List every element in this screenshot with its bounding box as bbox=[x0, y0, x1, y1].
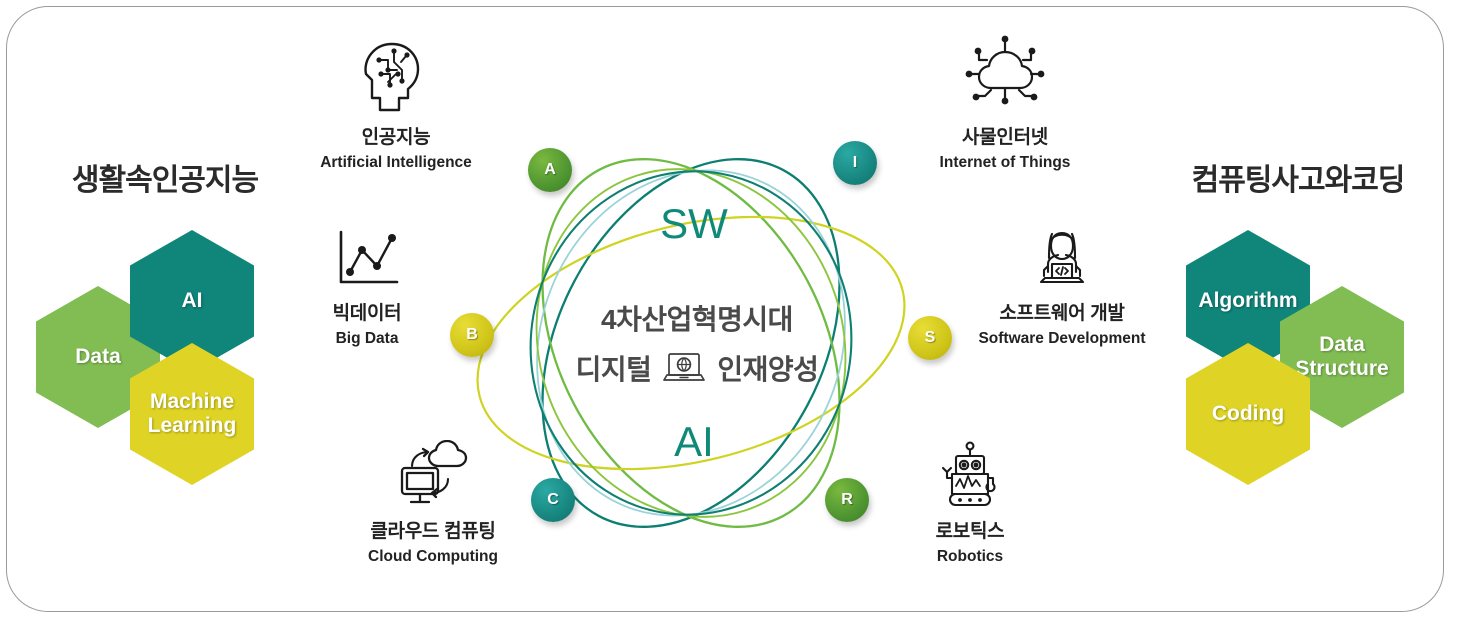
head-circuit-icon bbox=[296, 28, 496, 116]
node-letter: A bbox=[544, 161, 556, 179]
center-label-sw: SW bbox=[604, 200, 784, 248]
node-letter: I bbox=[853, 154, 857, 172]
developer-laptop-icon bbox=[956, 222, 1168, 292]
node-letter: R bbox=[841, 491, 853, 509]
topic-label-en: Software Development bbox=[956, 330, 1168, 348]
left-hexagon-cluster: Data AI Machine Learning bbox=[36, 230, 296, 490]
node-letter: S bbox=[925, 329, 936, 347]
cloud-nodes-icon bbox=[905, 28, 1105, 116]
orbit-diagram bbox=[418, 108, 964, 578]
topic-label-kr: 소프트웨어 개발 bbox=[956, 298, 1168, 325]
right-hexagon-cluster: Algorithm Data Structure Coding bbox=[1186, 230, 1446, 490]
topic-software-development: 소프트웨어 개발 Software Development bbox=[956, 222, 1168, 348]
node-b-big-data[interactable]: B bbox=[450, 313, 494, 357]
left-cluster-title: 생활속인공지능 bbox=[20, 155, 310, 199]
node-r-robotics[interactable]: R bbox=[825, 478, 869, 522]
center-label-ai: AI bbox=[604, 418, 784, 466]
infographic-canvas: 생활속인공지능 Data AI Machine Learning 컴퓨팅사고와코… bbox=[0, 0, 1462, 627]
center-headline-line1: 4차산업혁명시대 bbox=[512, 298, 882, 338]
right-cluster-title: 컴퓨팅사고와코딩 bbox=[1152, 155, 1444, 199]
laptop-globe-icon bbox=[661, 351, 707, 385]
node-s-software-development[interactable]: S bbox=[908, 316, 952, 360]
node-c-cloud-computing[interactable]: C bbox=[531, 478, 575, 522]
center-line2-left: 디지털 bbox=[576, 348, 652, 388]
center-headline-line2: 디지털 인재양성 bbox=[495, 348, 899, 388]
node-letter: C bbox=[547, 491, 559, 509]
center-line2-right: 인재양성 bbox=[717, 348, 818, 388]
node-i-internet-of-things[interactable]: I bbox=[833, 141, 877, 185]
node-letter: B bbox=[466, 326, 478, 344]
node-a-artificial-intelligence[interactable]: A bbox=[528, 148, 572, 192]
